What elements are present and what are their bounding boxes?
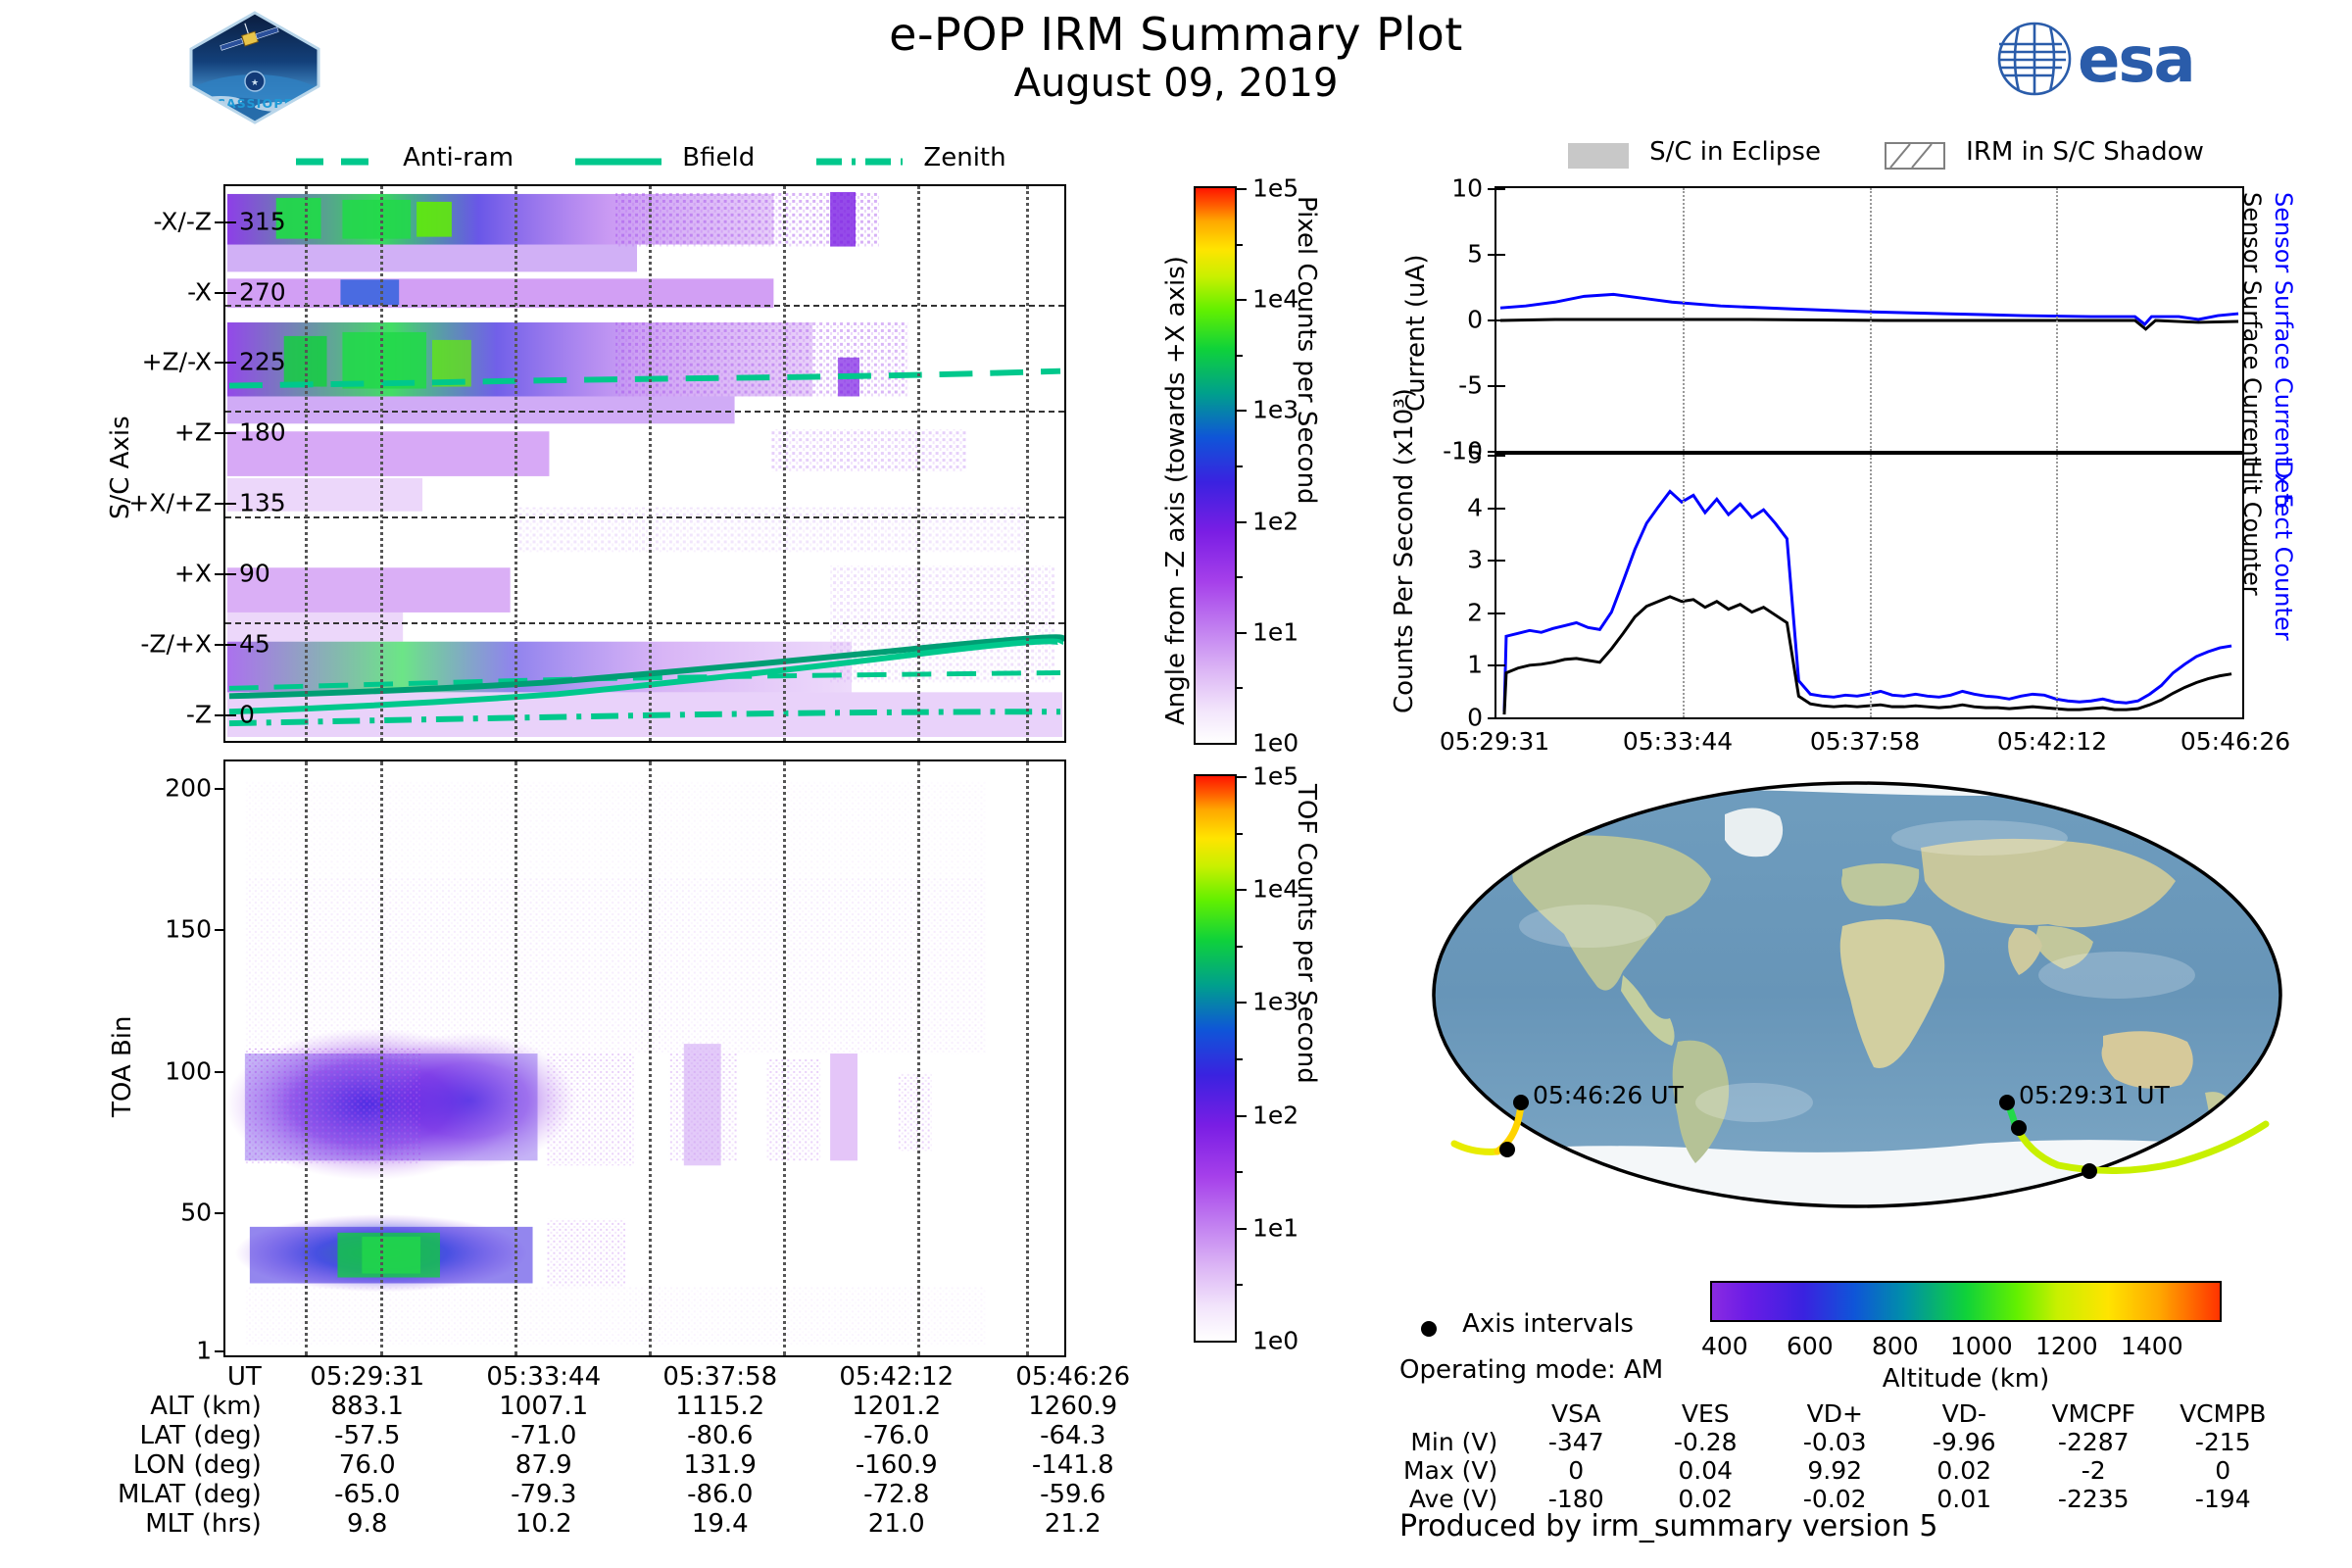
counts-vgrid — [1870, 455, 1872, 717]
cb2-minor — [1235, 833, 1243, 835]
row-label: LAT (deg) — [118, 1421, 279, 1450]
hit-counter-trace — [1504, 597, 2231, 714]
spec-vgrid — [514, 186, 517, 741]
cell: -86.0 — [632, 1480, 808, 1509]
right-xtick-2: 05:37:58 — [1791, 727, 1938, 756]
toa-bin-spectrogram[interactable]: 200 150 100 50 1 — [223, 759, 1066, 1357]
spec-hgrid — [225, 622, 1064, 624]
tof-counts-colorbar: 1e5 1e4 1e3 1e2 1e1 1e0 — [1194, 774, 1237, 1343]
toa-vgrid — [305, 761, 308, 1355]
cell: -65.0 — [279, 1480, 456, 1509]
cb1-tick — [1235, 299, 1247, 301]
axis-interval-dot-icon — [1416, 1315, 1442, 1341]
legend-item-zenith: Zenith — [814, 143, 1005, 172]
cell: -215 — [2158, 1428, 2287, 1456]
sensor-surface-current-plot[interactable]: 10 5 0 -5 -10 — [1494, 186, 2244, 453]
column-header: VCMPB — [2158, 1399, 2287, 1428]
cell: 21.0 — [808, 1509, 985, 1539]
cb1-label-1e0: 1e0 — [1252, 729, 1298, 758]
cell: -76.0 — [808, 1421, 985, 1450]
cb2-minor — [1235, 1171, 1243, 1173]
anti-ram-line-icon — [294, 153, 384, 171]
cell: 1201.2 — [808, 1392, 985, 1421]
table-row-alt: ALT (km) 883.1 1007.1 1115.2 1201.2 1260… — [118, 1392, 1161, 1421]
counts-right-label-blue: Detect Counter — [2270, 461, 2297, 641]
legend-item-irm-shadow: IRM in S/C Shadow — [1885, 145, 2204, 164]
spec-hgrid — [225, 516, 1064, 518]
cb1-label-1e1: 1e1 — [1252, 617, 1298, 646]
column-header: VMCPF — [2029, 1399, 2158, 1428]
cell: 0 — [1511, 1456, 1641, 1485]
toa-vgrid — [917, 761, 920, 1355]
shadow-hatch-icon — [1885, 142, 1945, 170]
cell: -141.8 — [985, 1450, 1161, 1480]
alt-tick-600: 600 — [1787, 1332, 1834, 1360]
toa-vgrid — [514, 761, 517, 1355]
svg-text:esa: esa — [2078, 24, 2194, 97]
detect-counter-trace — [1504, 491, 2231, 711]
cb2-label-1e0: 1e0 — [1252, 1327, 1298, 1355]
corner-cell — [1403, 1399, 1511, 1428]
spec-vgrid — [380, 186, 383, 741]
zenith-line-icon — [814, 153, 905, 171]
row-label: Max (V) — [1403, 1456, 1511, 1485]
axis-interval-legend-label: Axis intervals — [1462, 1309, 1634, 1339]
cell: -59.6 — [985, 1480, 1161, 1509]
cell: 1260.9 — [985, 1392, 1161, 1421]
cb2-label-1e1: 1e1 — [1252, 1213, 1298, 1242]
pixel-counts-colorbar: 1e5 1e4 1e3 1e2 1e1 1e0 — [1194, 186, 1237, 745]
cell: -57.5 — [279, 1421, 456, 1450]
table-header-row: VSA VES VD+ VD- VMCPF VCMPB — [1403, 1399, 2287, 1428]
spec-vgrid — [1026, 186, 1029, 741]
alt-tick-1400: 1400 — [2121, 1332, 2183, 1360]
spec-hgrid — [225, 411, 1064, 413]
cell: 10.2 — [456, 1509, 632, 1539]
cell: -2 — [2029, 1456, 2158, 1485]
cell: 1007.1 — [456, 1392, 632, 1421]
right-xtick-0: 05:29:31 — [1421, 727, 1568, 756]
row-label: ALT (km) — [118, 1392, 279, 1421]
altitude-colorbar-label: Altitude (km) — [1710, 1364, 2222, 1394]
column-header: VSA — [1511, 1399, 1641, 1428]
voltage-summary-table: VSA VES VD+ VD- VMCPF VCMPB Min (V) -347… — [1403, 1399, 2287, 1513]
cb2-minor — [1235, 1058, 1243, 1060]
row-label: MLT (hrs) — [118, 1509, 279, 1539]
table-row-mlt: MLT (hrs) 9.8 10.2 19.4 21.0 21.2 — [118, 1509, 1161, 1539]
counts-ylabel: Counts Per Second (x10³) — [1390, 388, 1419, 713]
spectrogram-right-axis-label: Angle from -Z axis (towards +X axis) — [1161, 256, 1191, 725]
operating-mode-label: Operating mode: AM — [1399, 1355, 1663, 1385]
cell: 9.8 — [279, 1509, 456, 1539]
counts-vgrid — [1683, 455, 1685, 717]
cb1-minor — [1235, 244, 1243, 246]
sc-axis-spectrogram[interactable]: -X/-Z -X +Z/-X +Z +X/+Z +X -Z/+X -Z 315 … — [223, 184, 1066, 743]
cell: 05:46:26 — [985, 1362, 1161, 1392]
cb1-minor — [1235, 355, 1243, 357]
cb2-minor — [1235, 946, 1243, 948]
counts-per-second-plot[interactable]: 5 4 3 2 1 0 — [1494, 453, 2244, 719]
axis-interval-dot — [1513, 1095, 1529, 1110]
tof-counts-colorbar-label: TOF Counts per Second — [1292, 784, 1321, 1084]
current-vgrid — [1870, 188, 1872, 451]
axis-interval-legend: Axis intervals — [1416, 1309, 1634, 1341]
cell: -160.9 — [808, 1450, 985, 1480]
toa-vgrid — [649, 761, 652, 1355]
cell: 05:29:31 — [279, 1362, 456, 1392]
cell: 21.2 — [985, 1509, 1161, 1539]
cell: -9.96 — [1899, 1428, 2029, 1456]
cb2-tick — [1235, 889, 1247, 891]
column-header: VD- — [1899, 1399, 2029, 1428]
toa-vgrid — [1026, 761, 1029, 1355]
orbit-world-map[interactable]: 05:29:31 UT 05:46:26 UT — [1431, 779, 2283, 1210]
cell: -2235 — [2029, 1485, 2158, 1513]
axis-interval-dot — [1499, 1142, 1515, 1157]
table-row-ut: UT 05:29:31 05:33:44 05:37:58 05:42:12 0… — [118, 1362, 1161, 1392]
counts-right-label-black: Hit Counter — [2238, 461, 2266, 596]
cell: 05:37:58 — [632, 1362, 808, 1392]
spec-hgrid — [225, 305, 1064, 307]
legend-item-bfield: Bfield — [573, 143, 755, 172]
cb1-tick — [1235, 632, 1247, 634]
cb2-tick — [1235, 1002, 1247, 1004]
spectrogram-legend: Anti-ram Bfield Zenith — [294, 143, 1006, 172]
cb1-tick — [1235, 410, 1247, 412]
current-right-label-black: Sensor Surface Current — [2238, 192, 2266, 465]
alt-tick-800: 800 — [1872, 1332, 1919, 1360]
cell: 19.4 — [632, 1509, 808, 1539]
row-label: Min (V) — [1403, 1428, 1511, 1456]
table-row-lon: LON (deg) 76.0 87.9 131.9 -160.9 -141.8 — [118, 1450, 1161, 1480]
axis-interval-dot — [2082, 1163, 2097, 1179]
toa-vgrid — [380, 761, 383, 1355]
legend-label-anti-ram: Anti-ram — [403, 143, 514, 172]
right-xtick-4: 05:46:26 — [2162, 727, 2309, 756]
cell: 05:33:44 — [456, 1362, 632, 1392]
row-label: LON (deg) — [118, 1450, 279, 1480]
legend-item-sc-eclipse: S/C in Eclipse — [1568, 145, 1826, 164]
cell: -79.3 — [456, 1480, 632, 1509]
legend-label-bfield: Bfield — [682, 143, 755, 172]
map-start-time-label: 05:29:31 UT — [2019, 1081, 2170, 1109]
cell: -0.28 — [1641, 1428, 1770, 1456]
cb2-tick — [1235, 776, 1247, 778]
produced-by-footer: Produced by irm_summary version 5 — [1399, 1509, 1937, 1543]
cell: 131.9 — [632, 1450, 808, 1480]
cell: 1115.2 — [632, 1392, 808, 1421]
toa-vgrid — [783, 761, 786, 1355]
cb1-minor — [1235, 465, 1243, 467]
cell: 0.02 — [1899, 1456, 2029, 1485]
right-xtick-3: 05:42:12 — [1979, 727, 2126, 756]
cell: 76.0 — [279, 1450, 456, 1480]
row-label: UT — [118, 1362, 279, 1392]
map-canvas — [1431, 779, 2283, 1210]
axis-interval-dot — [2011, 1120, 2027, 1136]
legend-item-anti-ram: Anti-ram — [294, 143, 514, 172]
pixel-counts-colorbar-label: Pixel Counts per Second — [1292, 196, 1321, 505]
table-row-lat: LAT (deg) -57.5 -71.0 -80.6 -76.0 -64.3 — [118, 1421, 1161, 1450]
cell: 9.92 — [1770, 1456, 1899, 1485]
legend-label-irm-shadow: IRM in S/C Shadow — [1966, 137, 2204, 167]
cell: -80.6 — [632, 1421, 808, 1450]
current-vgrid — [2056, 188, 2058, 451]
spec-vgrid — [783, 186, 786, 741]
altitude-colorbar — [1710, 1281, 2222, 1322]
bfield-line-icon — [573, 153, 663, 171]
cb2-tick — [1235, 1115, 1247, 1117]
row-label: MLAT (deg) — [118, 1480, 279, 1509]
counts-vgrid — [2056, 455, 2058, 717]
alt-tick-1200: 1200 — [2035, 1332, 2098, 1360]
cell: 0.04 — [1641, 1456, 1770, 1485]
cell: -71.0 — [456, 1421, 632, 1450]
column-header: VD+ — [1770, 1399, 1899, 1428]
spec-vgrid — [917, 186, 920, 741]
esa-logo: esa — [1989, 15, 2244, 107]
cell: 883.1 — [279, 1392, 456, 1421]
eclipse-swatch-icon — [1568, 143, 1629, 169]
orbit-track-far-left — [1454, 1144, 1497, 1151]
orbit-parameter-table: UT 05:29:31 05:33:44 05:37:58 05:42:12 0… — [118, 1362, 1161, 1539]
cb1-minor — [1235, 576, 1243, 578]
toa-data — [225, 761, 1064, 1355]
cb1-label-1e2: 1e2 — [1252, 507, 1298, 535]
cell: -347 — [1511, 1428, 1641, 1456]
right-xtick-1: 05:33:44 — [1604, 727, 1751, 756]
cb1-tick — [1235, 188, 1247, 190]
cb2-label-1e2: 1e2 — [1252, 1101, 1298, 1129]
cell: -194 — [2158, 1485, 2287, 1513]
cb1-minor — [1235, 687, 1243, 689]
legend-label-sc-eclipse: S/C in Eclipse — [1649, 137, 1821, 167]
cb2-minor — [1235, 1284, 1243, 1286]
axis-interval-dot — [1999, 1095, 2015, 1110]
table-row-mlat: MLAT (deg) -65.0 -79.3 -86.0 -72.8 -59.6 — [118, 1480, 1161, 1509]
cell: 0 — [2158, 1456, 2287, 1485]
alt-tick-1000: 1000 — [1950, 1332, 2013, 1360]
map-end-time-label: 05:46:26 UT — [1533, 1081, 1684, 1109]
legend-label-zenith: Zenith — [923, 143, 1005, 172]
cb2-tick — [1235, 1228, 1247, 1230]
spec-vgrid — [649, 186, 652, 741]
eclipse-legend: S/C in Eclipse IRM in S/C Shadow — [1568, 137, 2204, 170]
spec-vgrid — [305, 186, 308, 741]
table-row-min: Min (V) -347 -0.28 -0.03 -9.96 -2287 -21… — [1403, 1428, 2287, 1456]
cb1-tick — [1235, 521, 1247, 523]
table-row-max: Max (V) 0 0.04 9.92 0.02 -2 0 — [1403, 1456, 2287, 1485]
column-header: VES — [1641, 1399, 1770, 1428]
cell: -64.3 — [985, 1421, 1161, 1450]
cell: -0.03 — [1770, 1428, 1899, 1456]
cell: 05:42:12 — [808, 1362, 985, 1392]
cell: 87.9 — [456, 1450, 632, 1480]
spectrogram-data — [225, 186, 1064, 741]
toa-ylabel: TOA Bin — [108, 1016, 137, 1117]
cell: -2287 — [2029, 1428, 2158, 1456]
cell: -72.8 — [808, 1480, 985, 1509]
current-vgrid — [1683, 188, 1685, 451]
alt-tick-400: 400 — [1701, 1332, 1748, 1360]
